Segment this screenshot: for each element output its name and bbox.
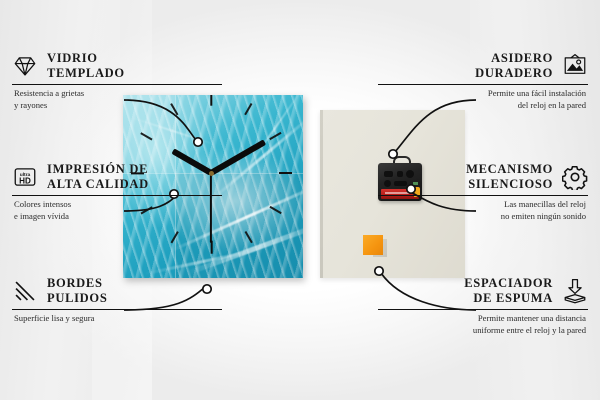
callout-title-line-1: ASIDERO [491, 52, 553, 66]
ultra-hd-badge-icon: ultra HD [12, 164, 38, 190]
callout-vidrio-templado: VIDRIO TEMPLADO Resistencia a grietas y … [12, 52, 222, 111]
callout-title-line-2: DURADERO [475, 67, 553, 81]
callout-title: IMPRESIÓN DE ALTA CALIDAD [45, 163, 149, 191]
callout-title-line-1: ESPACIADOR [464, 277, 553, 291]
callout-impresion-alta-calidad: ultra HD IMPRESIÓN DE ALTA CALIDAD Color… [12, 163, 222, 222]
clock-back-panel-edge [320, 110, 323, 278]
callout-divider [12, 195, 222, 196]
callout-divider [12, 84, 222, 85]
callout-header: ESPACIADOR DE ESPUMA [378, 277, 588, 305]
callout-title: BORDES PULIDOS [45, 277, 107, 305]
callout-description: Las manecillas del reloj no emiten ningú… [378, 199, 588, 221]
callout-espaciador-de-espuma: ESPACIADOR DE ESPUMA Permite mantener un… [378, 277, 588, 336]
callout-divider [378, 84, 588, 85]
callout-title-line-1: VIDRIO [47, 52, 98, 66]
callout-mecanismo-silencioso: MECANISMO SILENCIOSO Las manecillas del … [378, 163, 588, 222]
callout-header: ASIDERO DURADERO [378, 52, 588, 80]
clock-tick [244, 103, 253, 115]
callout-header: VIDRIO TEMPLADO [12, 52, 222, 80]
callout-description: Superficie lisa y segura [12, 313, 222, 324]
callout-title-line-2: TEMPLADO [47, 67, 125, 81]
diamond-icon [12, 53, 38, 79]
callout-title: ESPACIADOR DE ESPUMA [464, 277, 555, 305]
callout-title-line-2: PULIDOS [47, 292, 107, 306]
callout-bordes-pulidos: BORDES PULIDOS Superficie lisa y segura [12, 277, 222, 325]
callout-divider [378, 309, 588, 310]
callout-title-line-1: MECANISMO [466, 163, 553, 177]
callout-divider [12, 309, 222, 310]
clock-center-cap [209, 171, 214, 176]
callout-description: Permite una fácil instalación del reloj … [378, 88, 588, 110]
callout-header: ultra HD IMPRESIÓN DE ALTA CALIDAD [12, 163, 222, 191]
framed-picture-hanger-icon [562, 53, 588, 79]
infographic-canvas: VIDRIO TEMPLADO Resistencia a grietas y … [0, 0, 600, 400]
callout-description: Colores intensos e imagen vívida [12, 199, 222, 221]
callout-title: ASIDERO DURADERO [475, 52, 555, 80]
callout-description: Resistencia a grietas y rayones [12, 88, 222, 110]
callout-title: MECANISMO SILENCIOSO [466, 163, 555, 191]
callout-title-line-1: IMPRESIÓN DE [47, 163, 148, 177]
callout-title: VIDRIO TEMPLADO [45, 52, 125, 80]
callout-title-line-2: ALTA CALIDAD [47, 178, 149, 192]
callout-header: BORDES PULIDOS [12, 277, 222, 305]
callout-header: MECANISMO SILENCIOSO [378, 163, 588, 191]
callout-title-line-2: SILENCIOSO [468, 178, 553, 192]
gear-icon [562, 164, 588, 190]
callout-title-line-2: DE ESPUMA [473, 292, 553, 306]
polished-edges-icon [12, 278, 38, 304]
callout-description: Permite mantener una distancia uniforme … [378, 313, 588, 335]
foam-spacer-arrow-icon [562, 278, 588, 304]
ultra-hd-large-text: HD [19, 177, 31, 186]
clock-tick [279, 172, 292, 174]
callout-divider [378, 195, 588, 196]
callout-asidero-duradero: ASIDERO DURADERO Permite una fácil insta… [378, 52, 588, 111]
callout-title-line-1: BORDES [47, 277, 103, 291]
foam-spacer [363, 235, 383, 255]
